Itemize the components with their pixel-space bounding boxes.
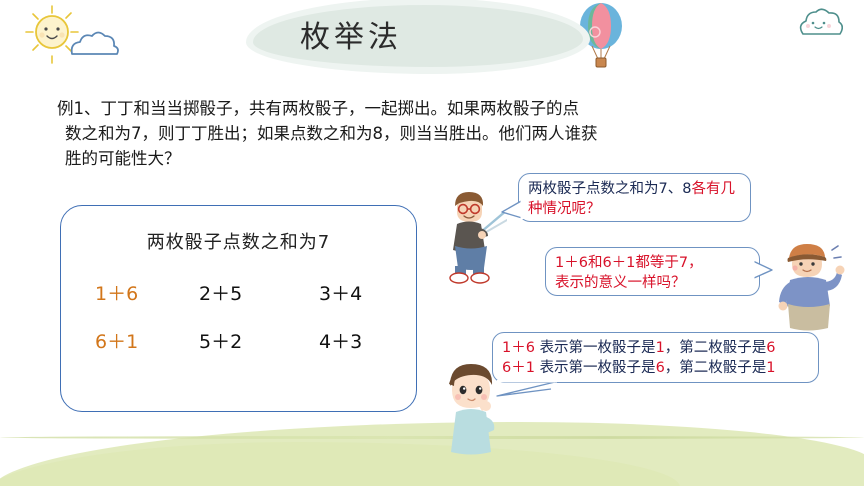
speech-bubble-explanation: 1＋6 表示第一枚骰子是1，第二枚骰子是6 6＋1 表示第一枚骰子是6，第二枚骰… (492, 332, 819, 383)
enumeration-box: 两枚骰子点数之和为7 1＋6 2＋5 3＋4 6＋1 5＋2 4＋3 (60, 205, 417, 412)
enumeration-grid: 1＋6 2＋5 3＋4 6＋1 5＋2 4＋3 (85, 268, 395, 364)
bubble1-line-2: 种情况呢？ (528, 199, 741, 219)
boy-with-pointer-illustration (435, 188, 507, 284)
enumeration-row: 6＋1 5＋2 4＋3 (85, 316, 395, 364)
bubble2-line-1: 1＋6和6＋1都等于7， (555, 253, 750, 273)
bubble3-line-2: 6＋1 表示第一枚骰子是6，第二枚骰子是1 (502, 358, 809, 378)
bubble3-line-1: 1＋6 表示第一枚骰子是1，第二枚骰子是6 (502, 338, 809, 358)
bubble3-row1-num2: 6 (766, 340, 775, 356)
enumeration-cell: 3＋4 (275, 279, 395, 306)
enumeration-cell: 5＋2 (171, 327, 275, 354)
page-title: 枚举法 (300, 16, 540, 60)
speech-bubble-same-meaning: 1＋6和6＋1都等于7， 表示的意义一样吗？ (545, 247, 760, 296)
enumeration-heading: 两枚骰子点数之和为7 (61, 228, 416, 254)
slide-canvas: 枚举法 例1、丁丁和当当掷骰子，共有两枚骰子，一起掷出。如果两枚骰子的点 数之和… (0, 0, 864, 486)
enumeration-cell: 2＋5 (171, 279, 275, 306)
bubble1-line1-red: 各有几 (691, 181, 735, 197)
problem-line-2: 数之和为7，则丁丁胜出；如果点数之和为8，则当当胜出。他们两人谁获 (57, 121, 677, 146)
bubble3-row2-num1: 6 (656, 360, 665, 376)
bubble1-line-1: 两枚骰子点数之和为7、8各有几 (528, 179, 741, 199)
speech-bubble-question: 两枚骰子点数之和为7、8各有几 种情况呢？ (518, 173, 751, 222)
problem-line-3: 胜的可能性大？ (57, 146, 677, 171)
bubble2-line-2: 表示的意义一样吗？ (555, 273, 750, 293)
bubble3-row1-text2: ，第二枚骰子是 (665, 340, 767, 356)
bubble3-row1-expr: 1＋6 (502, 340, 535, 356)
bubble3-row1-text1: 表示第一枚骰子是 (540, 340, 656, 356)
hot-air-balloon-icon (578, 2, 624, 72)
enumeration-cell: 1＋6 (85, 279, 171, 306)
bubble3-row2-text2: ，第二枚骰子是 (665, 360, 767, 376)
problem-statement: 例1、丁丁和当当掷骰子，共有两枚骰子，一起掷出。如果两枚骰子的点 数之和为7，则… (57, 96, 677, 171)
sun-cloud-icon (14, 4, 134, 68)
boy-thinking-illustration (432, 358, 510, 458)
boy-with-cap-thinking-illustration (768, 238, 850, 334)
problem-line-1: 例1、丁丁和当当掷骰子，共有两枚骰子，一起掷出。如果两枚骰子的点 (57, 96, 677, 121)
enumeration-cell: 4＋3 (275, 327, 395, 354)
enumeration-cell: 6＋1 (85, 327, 171, 354)
bubble1-line1-dark: 两枚骰子点数之和为7、8 (528, 181, 691, 197)
bubble3-row1-num1: 1 (656, 340, 665, 356)
bubble3-row2-num2: 1 (766, 360, 775, 376)
bubble3-row2-text1: 表示第一枚骰子是 (540, 360, 656, 376)
enumeration-row: 1＋6 2＋5 3＋4 (85, 268, 395, 316)
speech-bubble-question-tail (500, 198, 524, 224)
cloud-smile-icon (795, 6, 843, 40)
